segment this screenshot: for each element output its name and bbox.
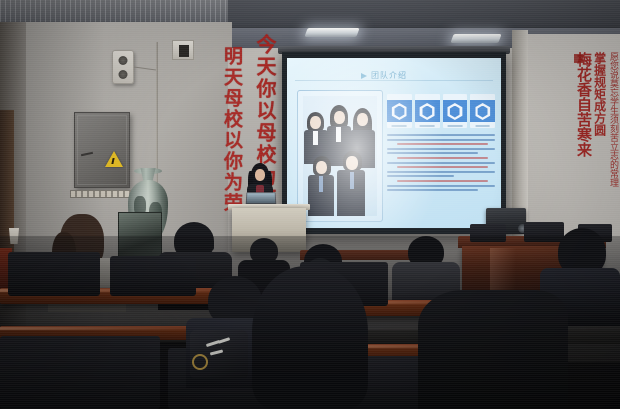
ceiling-light-fixture [304,28,359,37]
text-line [387,175,454,177]
electrical-panel [74,112,130,188]
presenter-face [255,169,265,181]
slide-card-4 [470,94,495,128]
photo-person-face [346,156,358,170]
slide-card-1 [387,94,412,128]
text-line [387,171,495,173]
photo-person-face [316,161,327,174]
photo-person-tie [350,172,354,189]
seat-back [8,252,100,296]
electric-warning-icon [105,151,123,167]
text-line [387,152,478,154]
text-line-highlight [397,166,488,168]
audience-torso [418,290,568,409]
hexagon-badge-icon [392,103,407,120]
laptop-screen [247,193,275,203]
bag-hardware [218,337,230,344]
calligraphy-large-column: 梅花香自苦寒来 [575,52,590,242]
text-line [387,185,495,187]
slide-icon-cards [387,94,495,128]
text-line [387,134,495,136]
slide-card-2 [415,94,440,128]
calligraphy-seal-icon [574,54,583,63]
audience-member-front-right [418,290,568,409]
seat-back [110,256,196,296]
wall-vent [70,190,134,198]
text-line [387,148,495,150]
ceiling-light-fixture [450,34,501,43]
card-caption [447,125,462,127]
slide-title-rule [295,80,493,81]
bench-sheen [0,327,200,330]
audience-member-long-hair-woman [252,266,368,409]
wall-mounted-box [172,40,194,60]
calligraphy-column-tomorrow: 明天母校以你为荣 [222,46,241,214]
panel-seam [77,115,127,185]
photo-person-face [334,111,345,124]
audience-hair [252,266,368,409]
hexagon-badge-icon [420,103,435,120]
calligraphy-small-column: 愿您说莫忘学生须刻苦立志的常理 [609,52,618,242]
seat-back [0,336,160,409]
text-line [387,189,478,191]
speaker-cone-icon [119,56,128,65]
card-caption [420,125,435,127]
calligraphy-medium-column: 掌握规矩成方圆 [593,52,606,242]
photo-person-face [310,116,321,129]
slide-body-text [387,134,495,194]
wall-speaker [112,50,134,84]
text-line-highlight [397,157,488,159]
card-caption [475,125,490,127]
handbag [190,330,248,378]
photo-person-shirt [313,131,318,145]
slide-card-3 [443,94,468,128]
hexagon-badge-icon [447,103,462,120]
card-caption [392,125,407,127]
text-line [387,139,495,141]
presentation-slide: 团队介绍 [287,58,501,228]
bag-hardware [210,349,223,355]
photo-person-tie [319,176,323,192]
text-line-highlight [397,143,488,145]
lecture-hall-photo: 今天你以母校为荣 明天母校以你为荣 愿您说莫忘学生须刻苦立志的常理 掌握规矩成方… [0,0,620,409]
photo-person-shirt [336,127,341,142]
hexagon-badge-icon [475,103,490,120]
right-wall-calligraphy: 愿您说莫忘学生须刻苦立志的常理 掌握规矩成方圆 梅花香自苦寒来 [534,52,618,242]
projection-screen: 团队介绍 [282,52,506,234]
speaker-cone-icon [119,70,128,79]
bench-seat-back [470,224,506,242]
text-line [387,162,495,164]
photo-person-face [357,113,368,126]
team-photo-card [297,90,383,222]
bag-chain-icon [192,354,208,370]
text-line-highlight [397,180,488,182]
team-photo [303,96,377,216]
title-arrow-icon [361,73,367,79]
